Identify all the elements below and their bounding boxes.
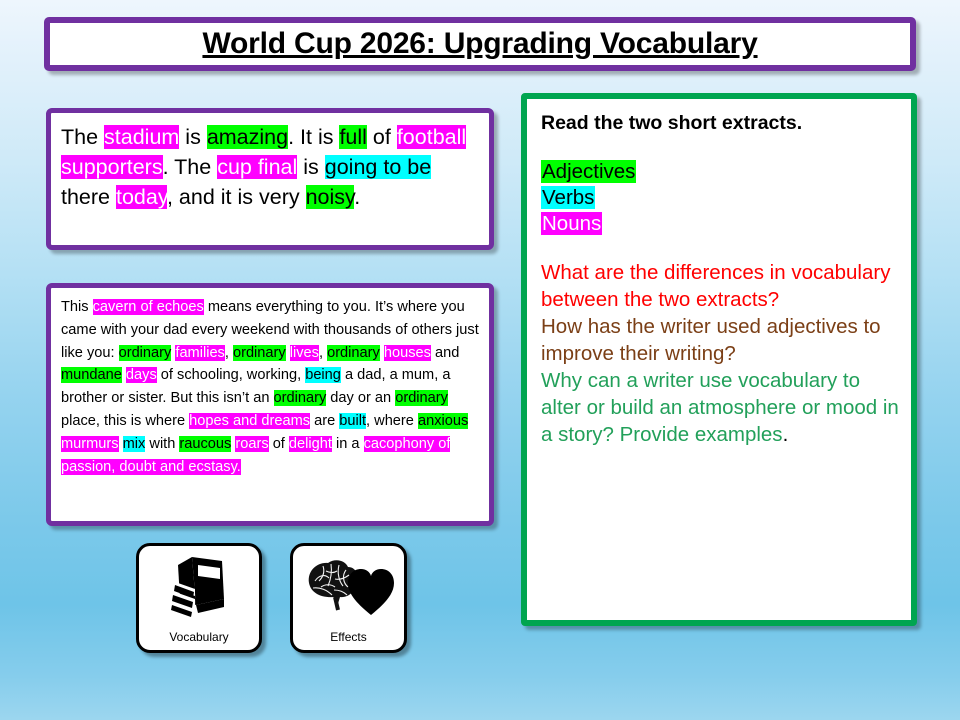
- extract-two-box: This cavern of echoes means everything t…: [46, 283, 494, 526]
- stack-of-books-icon: [139, 546, 259, 630]
- highlight-adjective: full: [339, 125, 366, 149]
- highlight-adjective: ordinary: [327, 345, 380, 361]
- plain-text-run: , where: [366, 413, 418, 429]
- question-three-text: Why can a writer use vocabulary to alter…: [541, 369, 899, 446]
- highlight-adjective: mundane: [61, 367, 122, 383]
- extract-one-box: The stadium is amazing. It is full of fo…: [46, 108, 494, 250]
- plain-text-run: of: [269, 436, 289, 452]
- plain-text-run: The: [61, 125, 104, 149]
- legend-label-adjectives: Adjectives: [541, 160, 636, 183]
- highlight-noun: murmurs: [61, 436, 119, 452]
- plain-text-run: with: [145, 436, 179, 452]
- highlight-adjective: anxious: [418, 413, 468, 429]
- task-panel: Read the two short extracts. Adjectives …: [521, 93, 917, 626]
- highlight-noun: stadium: [104, 125, 179, 149]
- task-heading: Read the two short extracts.: [541, 111, 899, 135]
- legend-item-nouns: Nouns: [541, 211, 899, 237]
- plain-text-run: is: [179, 125, 206, 149]
- question-one: What are the differences in vocabulary b…: [541, 259, 899, 313]
- highlight-verb: built: [339, 413, 366, 429]
- plain-text-run: ,: [225, 345, 233, 361]
- legend-label-verbs: Verbs: [541, 186, 595, 209]
- highlight-adjective: noisy: [306, 185, 355, 209]
- extract-two-text: This cavern of echoes means everything t…: [61, 296, 479, 478]
- plain-text-run: and: [431, 345, 459, 361]
- vocabulary-card-label: Vocabulary: [169, 630, 228, 644]
- highlight-verb: going to be: [325, 155, 431, 179]
- effects-card[interactable]: Effects: [290, 543, 407, 653]
- word-class-legend: Adjectives Verbs Nouns: [541, 159, 899, 237]
- highlight-noun: today: [116, 185, 167, 209]
- plain-text-run: , and it is very: [167, 185, 306, 209]
- highlight-adjective: ordinary: [233, 345, 286, 361]
- highlight-verb: mix: [123, 436, 146, 452]
- highlight-noun: cup final: [217, 155, 297, 179]
- highlight-adjective: ordinary: [119, 345, 172, 361]
- highlight-noun: families: [175, 345, 224, 361]
- question-three: Why can a writer use vocabulary to alter…: [541, 367, 899, 448]
- plain-text-run: is: [297, 155, 324, 179]
- highlight-verb: being: [305, 367, 341, 383]
- highlight-adjective: amazing: [207, 125, 288, 149]
- plain-text-run: day or an: [326, 390, 395, 406]
- effects-card-label: Effects: [330, 630, 366, 644]
- extract-one-text: The stadium is amazing. It is full of fo…: [61, 122, 479, 212]
- plain-text-run: . It is: [288, 125, 339, 149]
- plain-text-run: there: [61, 185, 116, 209]
- slide-canvas: World Cup 2026: Upgrading Vocabulary The…: [0, 0, 960, 720]
- highlight-noun: delight: [289, 436, 332, 452]
- plain-text-run: place, this is where: [61, 413, 189, 429]
- brain-and-heart-icon: [293, 546, 404, 630]
- legend-item-verbs: Verbs: [541, 185, 899, 211]
- plain-text-run: of: [367, 125, 397, 149]
- plain-text-run: of schooling, working,: [157, 367, 305, 383]
- plain-text-run: . The: [163, 155, 218, 179]
- highlight-adjective: ordinary: [395, 390, 448, 406]
- highlight-noun: cavern of echoes: [93, 299, 204, 315]
- plain-text-run: .: [354, 185, 360, 209]
- title-banner: World Cup 2026: Upgrading Vocabulary: [44, 17, 916, 71]
- vocabulary-card[interactable]: Vocabulary: [136, 543, 262, 653]
- question-three-period: .: [783, 423, 789, 446]
- legend-item-adjectives: Adjectives: [541, 159, 899, 185]
- legend-label-nouns: Nouns: [541, 212, 602, 235]
- highlight-adjective: ordinary: [274, 390, 327, 406]
- highlight-noun: houses: [384, 345, 431, 361]
- highlight-adjective: raucous: [179, 436, 231, 452]
- highlight-noun: days: [126, 367, 157, 383]
- highlight-noun: hopes and dreams: [189, 413, 310, 429]
- page-title: World Cup 2026: Upgrading Vocabulary: [202, 27, 757, 61]
- highlight-noun: lives: [290, 345, 319, 361]
- plain-text-run: ,: [319, 345, 327, 361]
- highlight-noun: roars: [235, 436, 268, 452]
- plain-text-run: in a: [332, 436, 364, 452]
- plain-text-run: This: [61, 299, 93, 315]
- plain-text-run: are: [310, 413, 339, 429]
- question-two: How has the writer used adjectives to im…: [541, 313, 899, 367]
